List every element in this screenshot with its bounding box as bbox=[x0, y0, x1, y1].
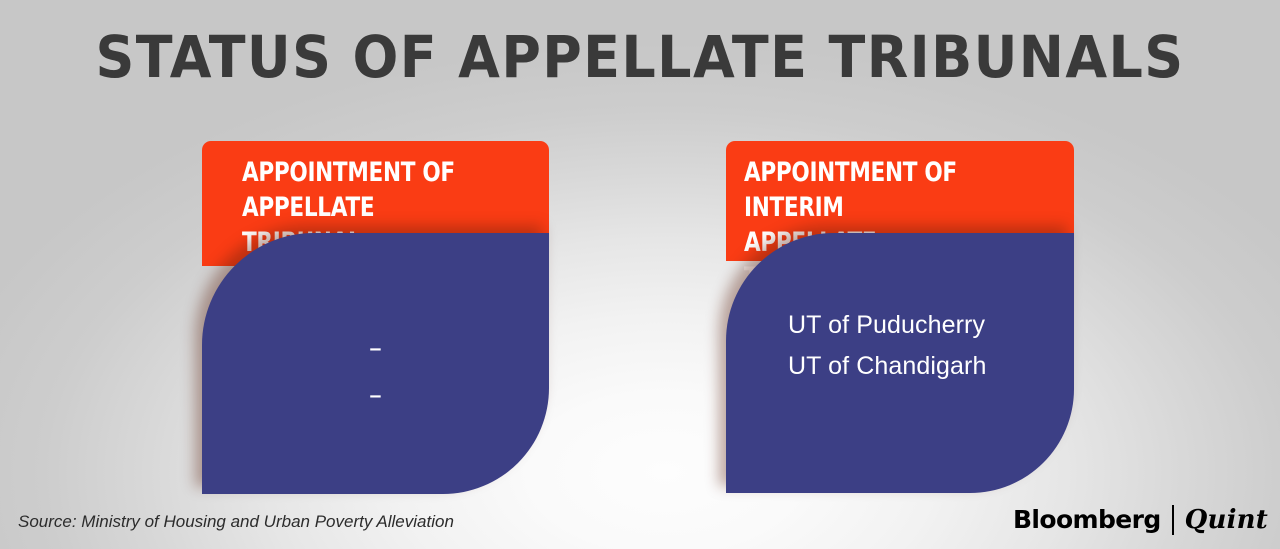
page-title: STATUS OF APPELLATE TRIBUNALS bbox=[45, 24, 1235, 90]
source-note: Source: Ministry of Housing and Urban Po… bbox=[18, 511, 454, 533]
brand-quint-text: Quint bbox=[1185, 505, 1268, 535]
brand-divider bbox=[1172, 505, 1174, 535]
list-item: UT of Puducherry bbox=[788, 305, 1074, 346]
brand-bloomberg-text: Bloomberg bbox=[1013, 505, 1161, 535]
list-item: – bbox=[202, 325, 549, 372]
card-appellate-tribunal: APPOINTMENT OF APPELLATE TRIBUNAL – – bbox=[202, 141, 549, 494]
card-interim-appellate-tribunal: APPOINTMENT OF INTERIM APPELLATE TRIBUNA… bbox=[726, 141, 1074, 493]
card-body-appellate-tribunal: – – bbox=[202, 233, 549, 494]
list-item: – bbox=[202, 372, 549, 419]
list-item: UT of Chandigarh bbox=[788, 346, 1074, 387]
brand-logo: Bloomberg Quint bbox=[1013, 504, 1268, 536]
infographic-canvas: STATUS OF APPELLATE TRIBUNALS APPOINTMEN… bbox=[0, 0, 1280, 549]
card-body-interim-appellate-tribunal: UT of Puducherry UT of Chandigarh bbox=[726, 233, 1074, 493]
